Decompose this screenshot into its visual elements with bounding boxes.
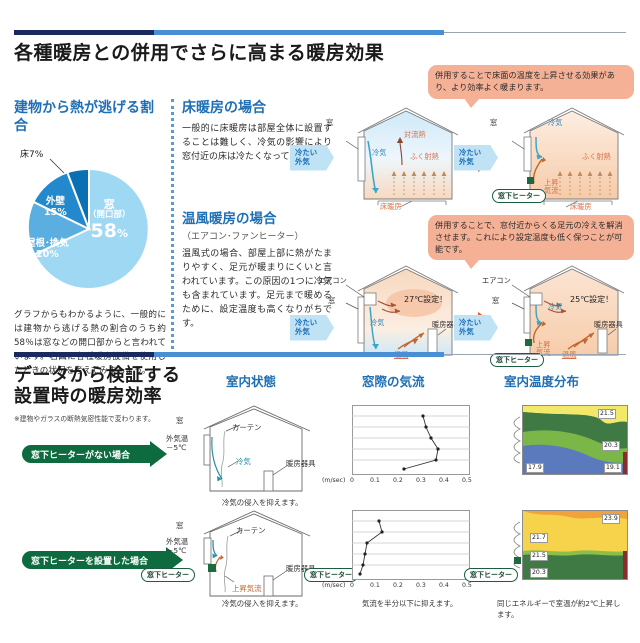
diagram-row-floor-heating: 窓 冷たい 外気 対流熱 冷気 ふく射熱 床暖房 xyxy=(332,101,640,213)
tick-row1-3: 0.3 xyxy=(416,477,426,484)
arrow-no-heater-head xyxy=(150,441,167,467)
arrow-no-heater-label: 窓下ヒーターがない場合 xyxy=(31,448,130,461)
pie-label-roof-text: 屋根･換気 xyxy=(26,238,69,249)
heater-label-right-floor: 窓下ヒーター xyxy=(492,189,546,203)
callout-bubble-aircon: 併用することで、窓付近からくる足元の冷えを解消させます。これにより設定温度も低く… xyxy=(428,215,634,261)
tick-row2-4: 0.4 xyxy=(439,582,449,589)
heatmap-row1-value-2: 20.3 xyxy=(602,441,620,451)
section1-rule xyxy=(14,30,626,35)
arrow-with-heater: 窓下ヒーターを設置した場合 xyxy=(22,551,166,569)
arrow-with-heater-label: 窓下ヒーターを設置した場合 xyxy=(31,554,148,567)
column-header-window-airflow: 窓際の気流 xyxy=(362,371,425,390)
tick-row1-0: 0 xyxy=(350,477,354,484)
label-window-right-floor: 窓 xyxy=(490,119,497,127)
label-aircon-left: エアコン xyxy=(318,277,347,285)
label-window-left-aircon: 窓 xyxy=(328,297,335,305)
warm-air-subheading: （エアコン･ファンヒーター） xyxy=(182,229,332,242)
section2-title-line1: データから検証する xyxy=(14,365,181,387)
pie-label-wall: 外壁 15% xyxy=(44,197,67,218)
tick-row2-2: 0.2 xyxy=(393,582,403,589)
house-left-floor-svg xyxy=(320,103,460,211)
rule2-segment-blue xyxy=(154,352,444,357)
heatmap-row2-heater-marker xyxy=(514,557,521,564)
caption-row2-col3: 同じエネルギーで室温が約2℃上昇します。 xyxy=(497,598,626,620)
column-header-room-state: 室内状態 xyxy=(226,371,276,390)
tick-row2-1: 0.1 xyxy=(370,582,380,589)
label-cold-air-right-floor: 冷気 xyxy=(548,119,562,127)
heatmap-row1-bracket xyxy=(504,415,522,465)
tick-row2-0: 0 xyxy=(350,582,354,589)
chip-cold-outside-air-left-aircon: 冷たい 外気 xyxy=(290,315,334,341)
label-radiant-heat-left: ふく射熱 xyxy=(410,153,439,161)
heatmap-row1-value-3: 17.9 xyxy=(526,463,544,473)
label-aircon-right: エアコン xyxy=(482,277,511,285)
airflow-chart-row2-svg xyxy=(352,510,470,580)
arrow-no-heater: 窓下ヒーターがない場合 xyxy=(22,445,150,463)
section1-title: 各種暖房との併用でさらに高まる暖房効果 xyxy=(14,42,626,65)
infographic-page: 各種暖房との併用でさらに高まる暖房効果 建物から熱が逃げる割合 xyxy=(0,0,640,640)
label-cold-air-right-aircon: 冷気 xyxy=(548,303,562,311)
pie-label-window-value: 58% xyxy=(91,220,128,242)
label-window-row2: 窓 xyxy=(176,520,183,531)
section-heating-combination: 各種暖房との併用でさらに高まる暖房効果 建物から熱が逃げる割合 xyxy=(14,30,626,365)
tick-row2-5: 0.5 xyxy=(462,582,472,589)
heater-marker-right-floor xyxy=(527,177,534,184)
pie-label-wall-value: 15% xyxy=(44,207,67,218)
label-window-row1: 窓 xyxy=(176,415,183,426)
label-curtain-row1: カーテン xyxy=(232,422,262,433)
label-outside-temp-row2: 外気温 －5℃ xyxy=(166,538,188,556)
airflow-chart-row1-svg xyxy=(352,405,470,475)
airflow-chart-row2-unit: (m/sec) xyxy=(322,582,345,589)
label-rising-air-row2: 上昇気流 xyxy=(232,583,262,594)
heat-loss-pie-chart: 床7% 窓 （開口部） 58% 屋根･換気 20% 外壁 15% xyxy=(14,151,164,301)
pie-label-roof: 屋根･換気 20% xyxy=(26,239,69,260)
label-appliance-right: 暖房器具 xyxy=(594,321,623,329)
tick-row1-5: 0.5 xyxy=(462,477,472,484)
chip-cold-outside-air-right-aircon: 冷たい 外気 xyxy=(454,315,498,341)
rule2-segment-thin xyxy=(444,354,626,355)
label-floor-heating-left: 床暖房 xyxy=(380,203,402,211)
label-convection-heat: 対流熱 xyxy=(404,131,426,139)
section2-title-line2: 設置時の暖房効率 xyxy=(14,386,162,408)
section1-body: 建物から熱が逃げる割合 床7% xyxy=(14,65,626,365)
pie-label-wall-text: 外壁 xyxy=(46,196,65,207)
tick-row1-4: 0.4 xyxy=(439,477,449,484)
label-appliance-row1: 暖房器具 xyxy=(286,458,316,469)
section2-body: データから検証する 設置時の暖房効率 ※建物やガラスの断熱気密性能で変わります。… xyxy=(14,365,626,643)
rule2-segment-dark xyxy=(14,352,154,357)
heatmap-row2-value-2: 21.7 xyxy=(530,533,548,543)
heater-marker-right-aircon xyxy=(525,339,532,346)
chip-cold-outside-air-left-floor: 冷たい 外気 xyxy=(290,145,334,171)
label-floor-heating-right: 床暖房 xyxy=(570,203,592,211)
label-rising-air-right-floor: 上昇 気流 xyxy=(544,179,558,195)
floor-heating-heading: 床暖房の場合 xyxy=(182,99,332,117)
caption-row1-col1: 冷気の侵入を抑えます。 xyxy=(222,497,303,508)
label-window-left-floor: 窓 xyxy=(326,119,333,127)
airflow-chart-row1-unit: (m/sec) xyxy=(322,477,345,484)
heatmap-row2-value-1: 23.9 xyxy=(602,514,620,524)
label-cold-air-left-aircon: 冷気 xyxy=(370,319,384,327)
tick-row1-1: 0.1 xyxy=(370,477,380,484)
pie-column: 建物から熱が逃げる割合 床7% xyxy=(14,99,166,379)
heatmap-row2-value-3: 21.5 xyxy=(530,551,548,561)
tick-row2-3: 0.3 xyxy=(416,582,426,589)
label-window-right-aircon: 窓 xyxy=(492,297,499,305)
label-temp-setting-left: 27℃設定！ xyxy=(404,295,447,304)
section2-rule xyxy=(14,352,626,357)
warm-air-heading: 温風暖房の場合 xyxy=(182,211,332,229)
heatmap-row2-value-4: 20.3 xyxy=(530,568,548,578)
rule-segment-dark xyxy=(14,30,154,35)
tick-row1-2: 0.2 xyxy=(393,477,403,484)
pie-label-floor: 床7% xyxy=(20,147,43,160)
section2-note: ※建物やガラスの断熱気密性能で変わります。 xyxy=(14,413,155,423)
column-header-temp-distribution: 室内温度分布 xyxy=(504,371,579,390)
label-cold-air-left-floor: 冷気 xyxy=(372,149,386,157)
heater-label-row2-right: 窓下ヒーター xyxy=(304,568,358,582)
pie-title: 建物から熱が逃げる割合 xyxy=(14,99,166,135)
label-cold-air-row1: 冷気 xyxy=(236,456,251,467)
label-outside-temp-row1: 外気温 －5℃ xyxy=(166,435,188,453)
label-curtain-row2: カーテン xyxy=(236,525,266,536)
pie-label-roof-value: 20% xyxy=(36,249,59,260)
caption-row2-col2: 気流を半分以下に抑えます。 xyxy=(362,598,457,609)
rule-segment-blue xyxy=(154,30,444,35)
heater-label-row2-left: 窓下ヒーター xyxy=(141,568,195,582)
heatmap-row1-value-1: 21.5 xyxy=(598,409,616,419)
description-column: 床暖房の場合 一般的に床暖房は部屋全体に設置することは難しく、冷気の影響により窓… xyxy=(182,99,332,332)
section-data-verification: データから検証する 設置時の暖房効率 ※建物やガラスの断熱気密性能で変わります。… xyxy=(14,352,626,643)
heatmap-row2-heater-label: 窓下ヒーター xyxy=(464,568,518,582)
room-house-row1-svg xyxy=(192,405,322,500)
label-radiant-heat-right: ふく射熱 xyxy=(582,153,611,161)
caption-row2-col1: 冷気の侵入を抑えます。 xyxy=(222,598,303,609)
vertical-dotted-divider xyxy=(171,99,174,355)
chip-cold-outside-air-right-floor: 冷たい 外気 xyxy=(454,145,498,171)
label-temp-setting-right: 25℃設定！ xyxy=(570,295,613,304)
pie-label-window: 窓 （開口部） 58% xyxy=(88,199,131,242)
rule-segment-thin xyxy=(444,32,626,33)
callout-bubble-floor-heating: 併用することで床面の温度を上昇させる効果があり、より効率よく暖まります。 xyxy=(428,65,634,99)
heatmap-row1-value-4: 19.1 xyxy=(604,463,622,473)
